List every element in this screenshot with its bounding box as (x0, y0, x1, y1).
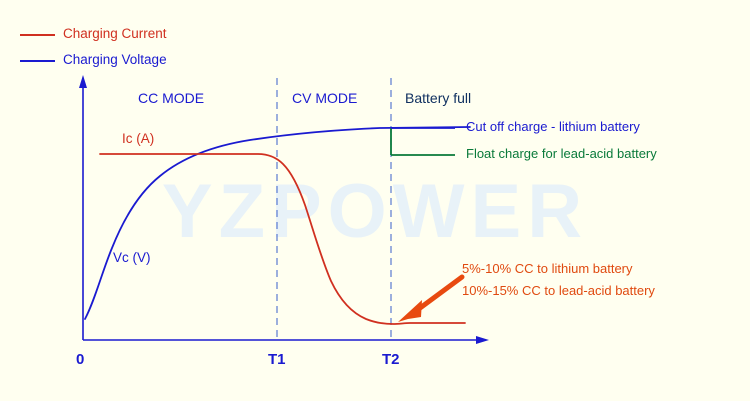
annotation-float-charge: Float charge for lead-acid battery (466, 146, 657, 161)
curve-label-current: Ic (A) (122, 131, 154, 146)
x-axis-arrow (476, 336, 489, 344)
chart-canvas: YZPOWER Charging Current Charging Voltag… (0, 0, 750, 401)
annotation-cut-off-charge: Cut off charge - lithium battery (466, 119, 640, 134)
annotation-residual-lead-acid: 10%-15% CC to lead-acid battery (462, 283, 655, 298)
axis-tick-t1: T1 (268, 351, 286, 368)
curve-label-voltage: Vc (V) (113, 250, 151, 265)
mode-label-cc: CC MODE (138, 90, 204, 106)
annotation-residual-lithium: 5%-10% CC to lithium battery (462, 261, 633, 276)
residual-arrow (398, 277, 462, 322)
axis-tick-t2: T2 (382, 351, 400, 368)
y-axis-arrow (79, 75, 87, 88)
axis-origin-label: 0 (76, 351, 84, 368)
legend-label-charging-current: Charging Current (63, 26, 167, 41)
mode-label-cv: CV MODE (292, 90, 357, 106)
mode-label-battery-full: Battery full (405, 90, 471, 106)
legend-label-charging-voltage: Charging Voltage (63, 52, 167, 67)
